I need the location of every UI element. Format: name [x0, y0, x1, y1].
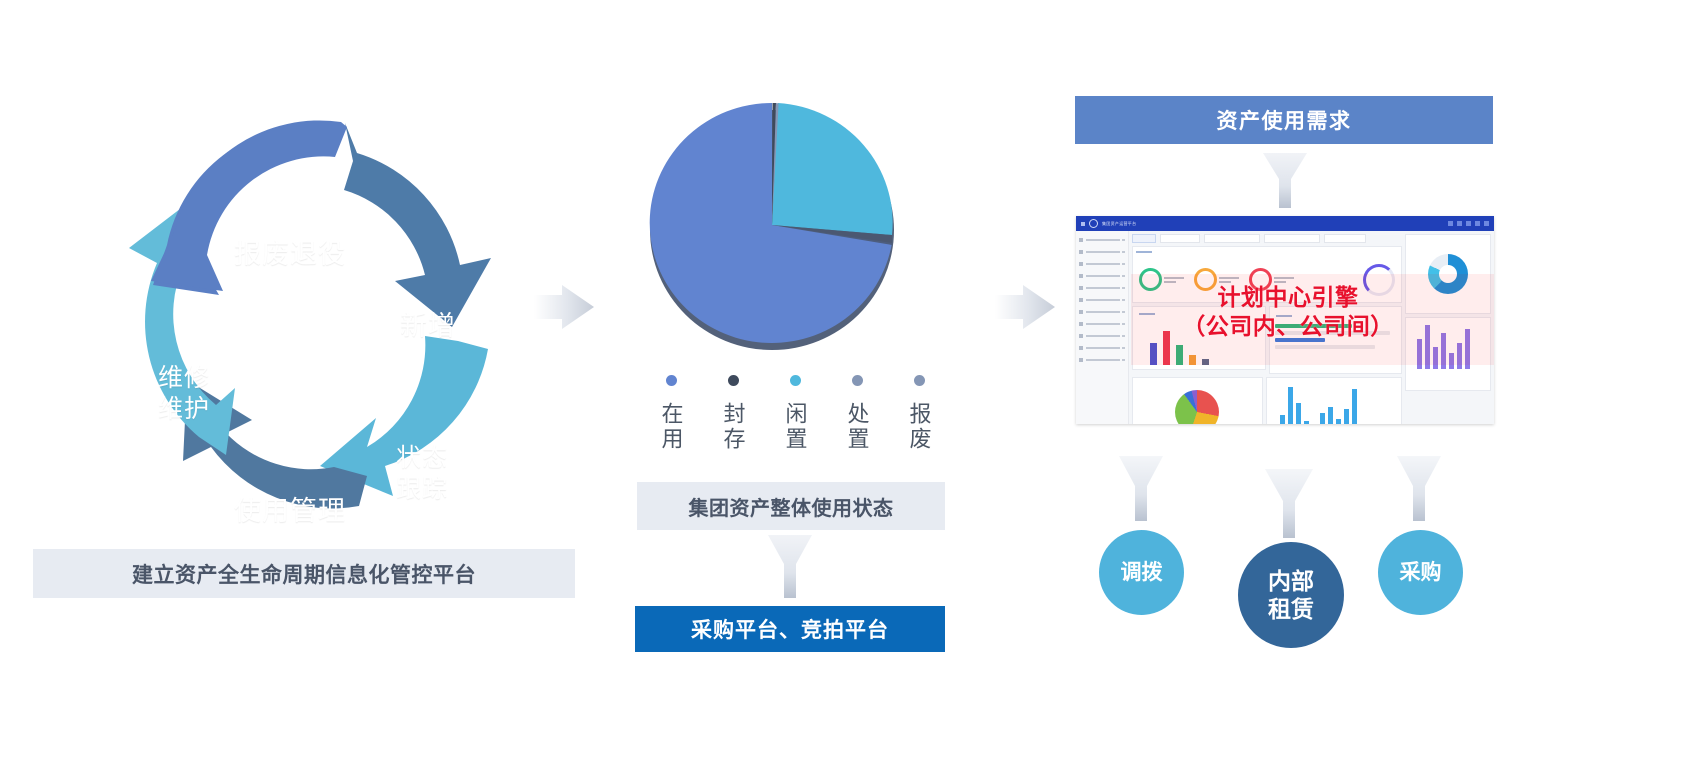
titlebar-icon-4[interactable]	[1475, 221, 1480, 226]
kpi-ring-red	[1249, 268, 1272, 291]
dashboard-sidebar[interactable]	[1076, 231, 1129, 424]
titlebar-icon-5[interactable]	[1484, 221, 1489, 226]
asset-demand-bar: 资产使用需求	[1075, 96, 1493, 144]
sidebar-item[interactable]	[1076, 318, 1128, 330]
funnel-down-arrow-icon	[767, 534, 813, 600]
cycle-segment-scrap-body	[151, 120, 347, 291]
chevron-right-icon	[534, 283, 596, 331]
tab-5[interactable]	[1324, 234, 1366, 243]
pie-caption-text: 集团资产整体使用状态	[689, 492, 894, 521]
dashboard-body	[1076, 231, 1494, 424]
asset-demand-text: 资产使用需求	[1217, 105, 1352, 135]
outcome-label-purchase: 采购	[1400, 560, 1442, 586]
lifecycle-caption-text: 建立资产全生命周期信息化管控平台	[132, 559, 476, 589]
sidebar-item[interactable]	[1076, 258, 1128, 270]
sidebar-item[interactable]	[1076, 234, 1128, 246]
funnel-down-arrow-icon	[1264, 468, 1314, 540]
asset-status-pie-chart	[620, 85, 960, 370]
kpi-ring-green	[1139, 268, 1162, 291]
funnel-arrow-purchase	[1396, 455, 1442, 528]
kpi-card	[1132, 246, 1402, 303]
funnel-down-arrow-icon	[1262, 152, 1308, 210]
outcome-label-allocate: 调拨	[1121, 560, 1163, 586]
dashboard-titlebar: 集团资产运营平台	[1076, 216, 1494, 231]
funnel-down-arrow-icon	[1118, 455, 1164, 523]
sidebar-item[interactable]	[1076, 246, 1128, 258]
procurement-platform-text: 采购平台、竞拍平台	[691, 614, 889, 644]
bar-chart-card	[1132, 306, 1266, 370]
progress-card	[1269, 306, 1403, 374]
infographic-canvas: 报废退役 新增 状态 跟踪 使用管理 维修 维护 建立资产全生命周期信息化管控平…	[0, 0, 1689, 780]
legend-label-disposal: 处置	[842, 402, 871, 452]
dashboard-mid-row	[1132, 306, 1402, 377]
funnel-arrow-demand	[1262, 152, 1308, 215]
menu-icon[interactable]	[1081, 222, 1085, 226]
legend-item-idle[interactable]: 闲置	[764, 375, 826, 452]
legend-label-idle: 闲置	[780, 402, 809, 452]
outcome-circle-allocate[interactable]: 调拨	[1099, 530, 1184, 615]
sidebar-item[interactable]	[1076, 354, 1128, 366]
procurement-platform-bar[interactable]: 采购平台、竞拍平台	[635, 606, 945, 652]
dashboard-right-panel	[1405, 231, 1494, 424]
mini-pie-chart	[1175, 390, 1219, 424]
bar-chart	[1150, 331, 1262, 365]
funnel-arrow-pie	[767, 534, 813, 605]
outcome-label-lease-line1: 内部	[1268, 567, 1314, 595]
right-column-chart	[1417, 321, 1487, 369]
pie-legend-row: 在用 封存 闲置 处置 报废	[640, 375, 950, 452]
pie-graphic	[620, 85, 960, 370]
sidebar-item[interactable]	[1076, 282, 1128, 294]
legend-item-sealed[interactable]: 封存	[702, 375, 764, 452]
cycle-segment-new	[344, 123, 491, 327]
donut-chart-card	[1405, 234, 1491, 314]
app-logo-icon	[1089, 219, 1098, 228]
outcome-label-lease-line2: 租赁	[1268, 595, 1314, 623]
legend-dot-disposal	[852, 375, 863, 386]
funnel-down-arrow-icon	[1396, 455, 1442, 523]
asset-lifecycle-cycle: 报废退役 新增 状态 跟踪 使用管理 维修 维护	[95, 95, 535, 515]
legend-dot-in-use	[666, 375, 677, 386]
funnel-arrow-lease	[1264, 468, 1314, 545]
dashboard-main	[1129, 231, 1405, 424]
mini-pie-card	[1132, 377, 1263, 424]
legend-label-scrap: 报废	[904, 402, 933, 452]
legend-label-sealed: 封存	[718, 402, 747, 452]
sidebar-item[interactable]	[1076, 306, 1128, 318]
chevron-right-icon	[995, 283, 1057, 331]
dashboard-tabs[interactable]	[1132, 234, 1402, 243]
legend-dot-sealed	[728, 375, 739, 386]
titlebar-icon-2[interactable]	[1457, 221, 1462, 226]
tab-active[interactable]	[1132, 234, 1156, 243]
column-chart	[1280, 381, 1399, 424]
pie-legend: 在用 封存 闲置 处置 报废	[640, 375, 950, 452]
funnel-arrow-allocate	[1118, 455, 1164, 528]
lifecycle-caption-band: 建立资产全生命周期信息化管控平台	[33, 549, 575, 598]
legend-label-in-use: 在用	[656, 402, 685, 452]
kpi-gauge	[1363, 264, 1395, 296]
tab-4[interactable]	[1264, 234, 1320, 243]
legend-item-scrap[interactable]: 报废	[888, 375, 950, 452]
stage-arrow-2	[995, 283, 1057, 336]
titlebar-icon-3[interactable]	[1466, 221, 1471, 226]
legend-dot-idle	[790, 375, 801, 386]
titlebar-icon-1[interactable]	[1448, 221, 1453, 226]
donut-chart	[1428, 254, 1468, 294]
stage-arrow-1	[534, 283, 596, 336]
kpi-ring-orange	[1194, 268, 1217, 291]
sidebar-item[interactable]	[1076, 342, 1128, 354]
legend-dot-scrap	[914, 375, 925, 386]
dashboard-bottom-row	[1132, 377, 1402, 424]
tab-3[interactable]	[1204, 234, 1260, 243]
column-chart-card	[1266, 377, 1403, 424]
cycle-arrows-graphic	[95, 95, 535, 515]
outcome-circle-internal-lease[interactable]: 内部 租赁	[1238, 542, 1344, 648]
sidebar-item[interactable]	[1076, 330, 1128, 342]
sidebar-item[interactable]	[1076, 270, 1128, 282]
dashboard-window-title: 集团资产运营平台	[1102, 221, 1136, 227]
legend-item-in-use[interactable]: 在用	[640, 375, 702, 452]
right-column-chart-card	[1405, 317, 1491, 391]
sidebar-item[interactable]	[1076, 294, 1128, 306]
plan-center-dashboard-screenshot[interactable]: 集团资产运营平台	[1076, 216, 1494, 424]
legend-item-disposal[interactable]: 处置	[826, 375, 888, 452]
tab-2[interactable]	[1160, 234, 1200, 243]
pie-caption-band: 集团资产整体使用状态	[637, 482, 945, 530]
titlebar-actions[interactable]	[1448, 221, 1489, 226]
outcome-circle-purchase[interactable]: 采购	[1378, 530, 1463, 615]
kpi-row	[1133, 257, 1401, 302]
